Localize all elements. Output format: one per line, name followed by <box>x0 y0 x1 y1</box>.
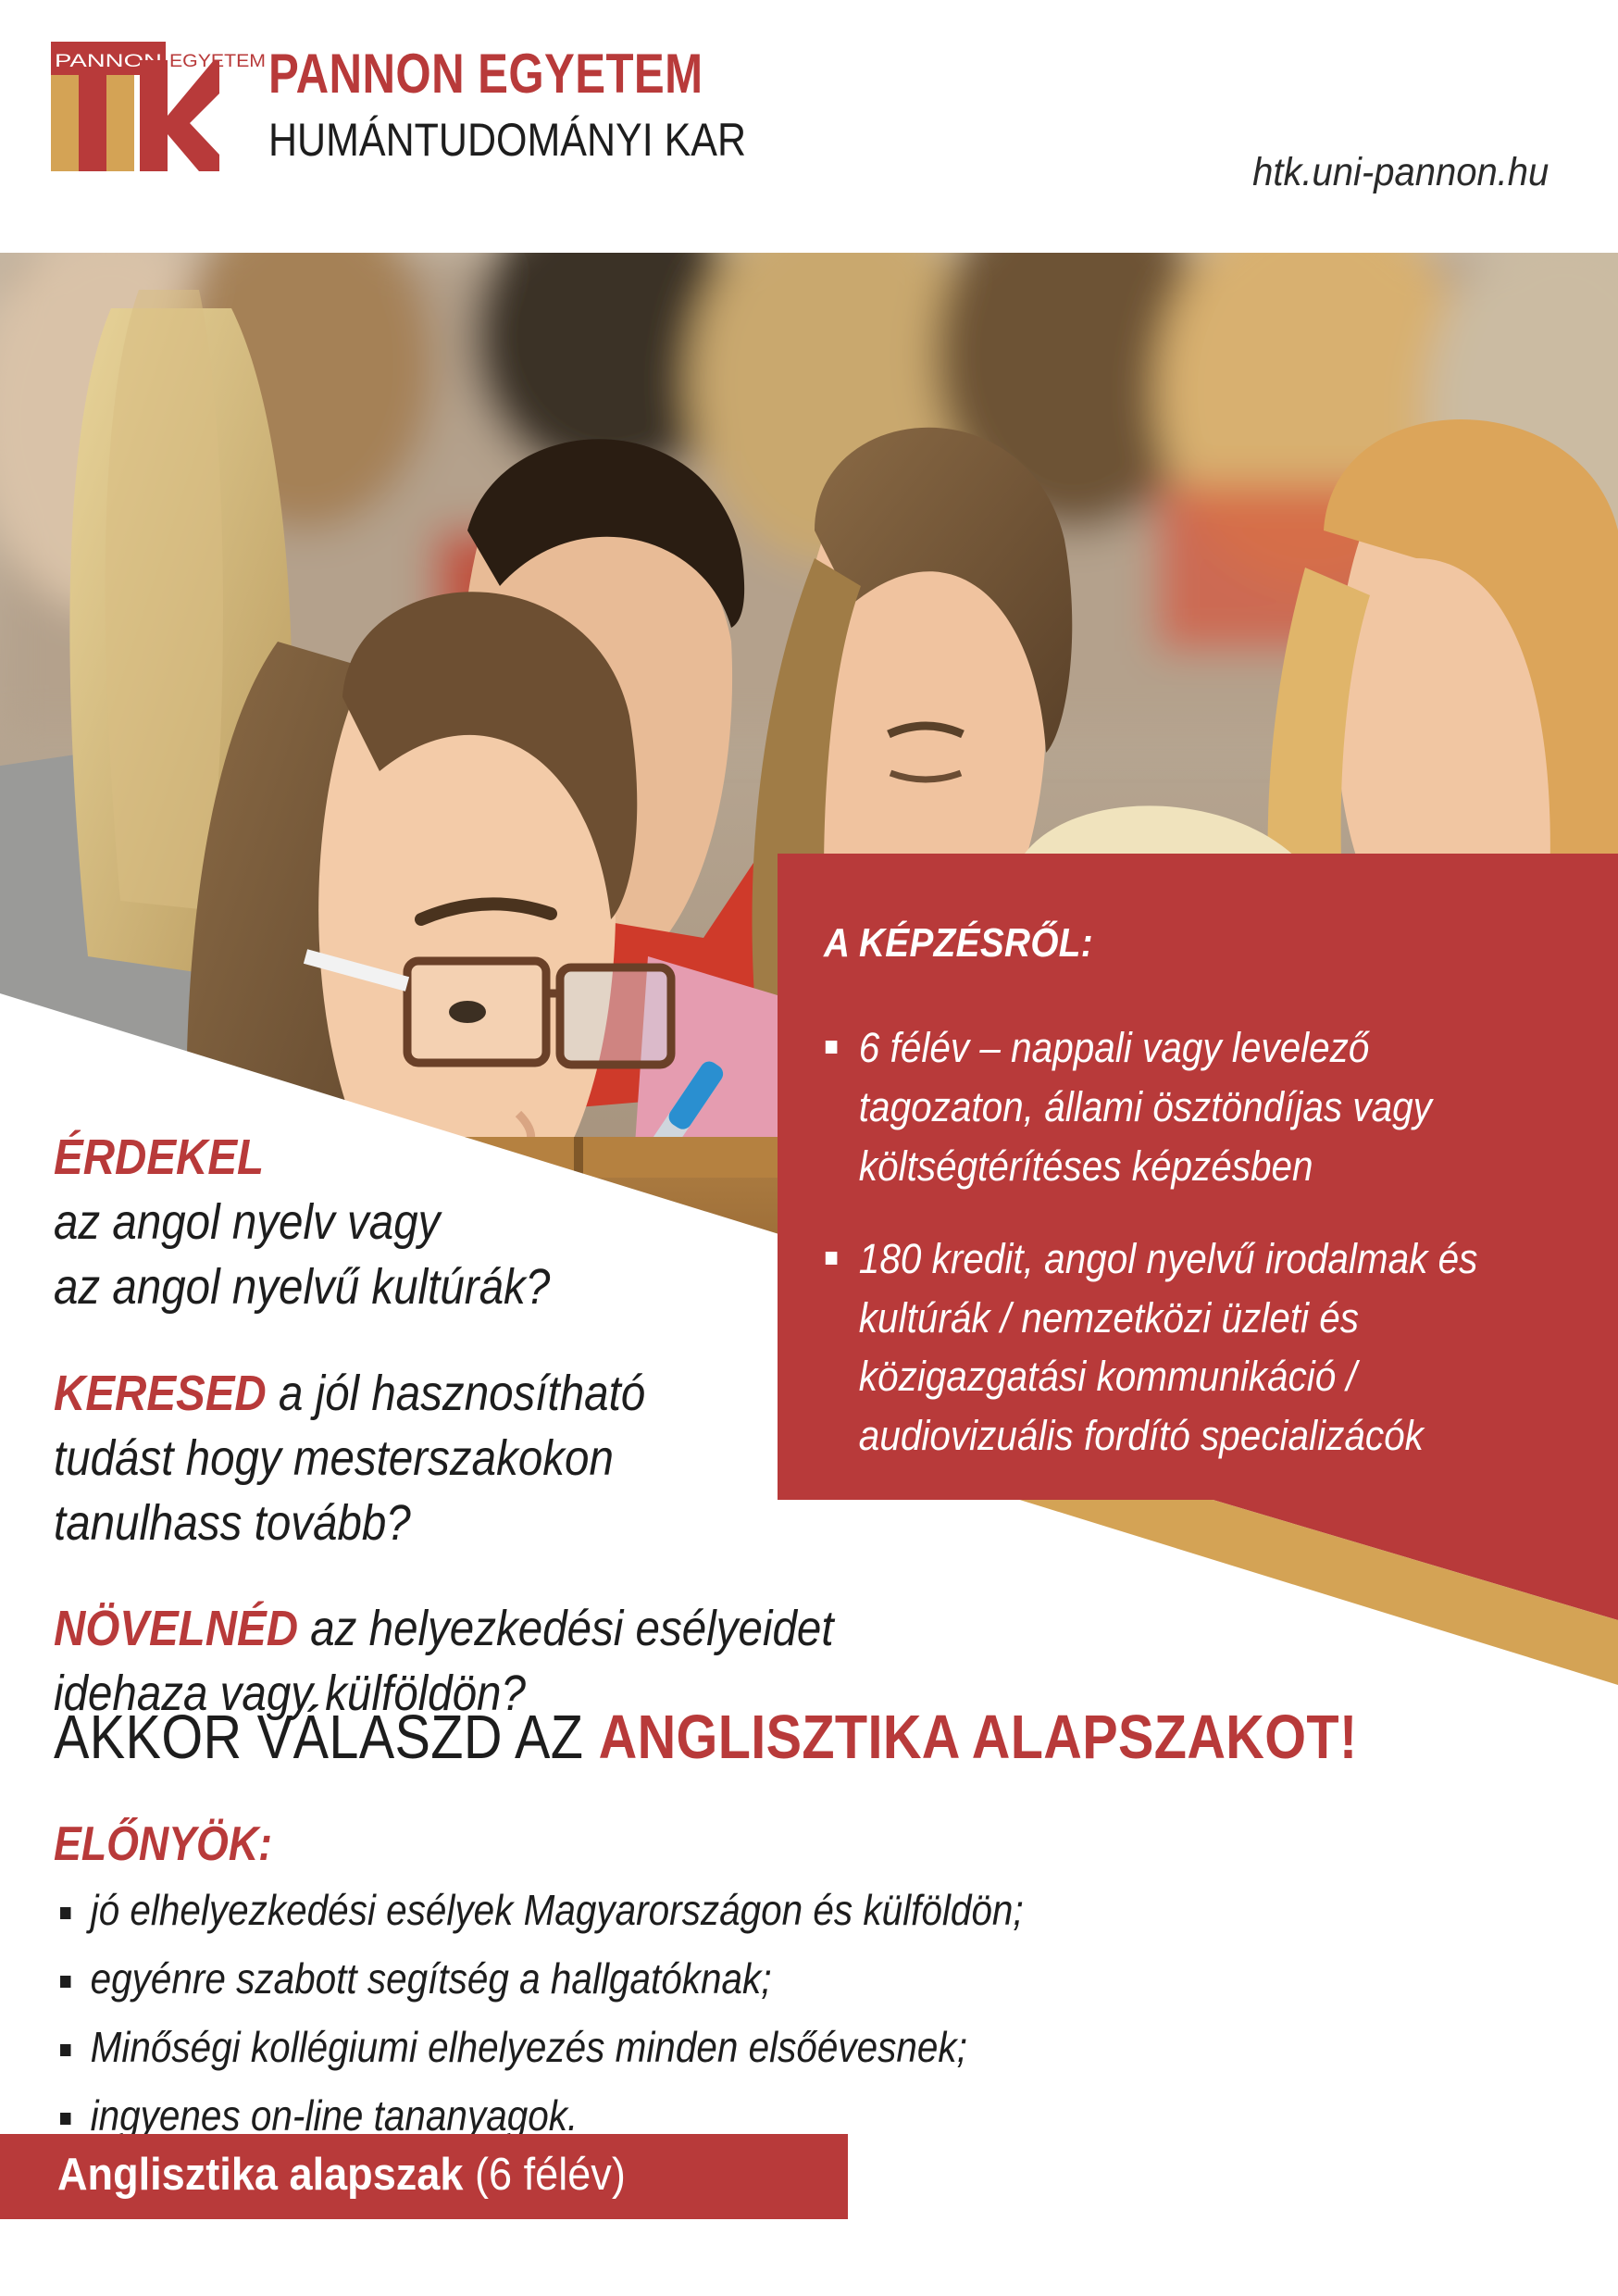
copy-p2-line3: tanulhass tovább? <box>54 1495 411 1551</box>
program-name: Anglisztika alapszak <box>57 2150 463 2200</box>
benefits-block: ELŐNYÖK: jó elhelyezkedési esélyek Magya… <box>54 1816 1442 2163</box>
copy-p1-line2: az angol nyelvű kultúrák? <box>54 1259 550 1315</box>
benefits-item-text: Minőségi kollégiumi elhelyezés minden el… <box>91 2023 967 2071</box>
square-bullet-icon <box>60 1907 70 1919</box>
poster-header: PANNON EGYETEM PANNON EGYETEM HUMÁNTUDOM… <box>0 0 1618 253</box>
website-url[interactable]: htk.uni-pannon.hu <box>1252 150 1549 195</box>
program-footer-bar: Anglisztika alapszak (6 félév) <box>0 2134 848 2219</box>
benefits-item: ingyenes on-line tananyagok. <box>54 2094 1276 2137</box>
copy-p1-line1: az angol nyelv vagy <box>54 1194 440 1250</box>
copy-p2-line1: a jól hasznosítható <box>267 1366 645 1421</box>
square-bullet-icon <box>60 2113 70 2125</box>
benefits-item: Minőségi kollégiumi elhelyezés minden el… <box>54 2026 1276 2068</box>
benefits-title: ELŐNYÖK: <box>54 1816 1248 1872</box>
copy-paragraph-2: KERESED a jól hasznosítható tudást hogy … <box>54 1361 966 1556</box>
benefits-item-text: egyénre szabott segítség a hallgatóknak; <box>91 1954 772 2003</box>
benefits-item: jó elhelyezkedési esélyek Magyarországon… <box>54 1889 1276 1931</box>
copy-keyword-keresed: KERESED <box>54 1366 267 1421</box>
benefits-item-text: ingyenes on-line tananyagok. <box>91 2091 579 2140</box>
program-duration <box>463 2150 475 2200</box>
faculty-name: HUMÁNTUDOMÁNYI KAR <box>268 117 746 163</box>
main-headline: AKKOR VÁLASZD AZ ANGLISZTIKA ALAPSZAKOT! <box>54 1702 1358 1773</box>
square-bullet-icon <box>826 1041 838 1054</box>
square-bullet-icon <box>60 2044 70 2056</box>
benefits-item: egyénre szabott segítség a hallgatóknak; <box>54 1957 1276 2000</box>
benefits-list: jó elhelyezkedési esélyek Magyarországon… <box>54 1889 1442 2137</box>
headline-emphasis: ANGLISZTIKA ALAPSZAKOT! <box>599 1703 1358 1772</box>
header-title-block: PANNON EGYETEM HUMÁNTUDOMÁNYI KAR <box>268 46 824 163</box>
program-footer-text: Anglisztika alapszak (6 félév) <box>57 2149 626 2201</box>
copy-paragraph-1: ÉRDEKEL az angol nyelv vagy az angol nye… <box>54 1125 966 1320</box>
left-copy-block: ÉRDEKEL az angol nyelv vagy az angol nye… <box>54 1125 1090 1764</box>
benefits-item-text: jó elhelyezkedési esélyek Magyarországon… <box>91 1886 1024 1934</box>
copy-keyword-erdekel: ÉRDEKEL <box>54 1129 264 1185</box>
hk-logo: PANNON EGYETEM <box>51 42 219 171</box>
copy-keyword-novelned: NÖVELNÉD <box>54 1601 298 1656</box>
institution-name: PANNON EGYETEM <box>268 46 724 102</box>
headline-lead: AKKOR VÁLASZD AZ <box>54 1703 599 1772</box>
square-bullet-icon <box>60 1976 70 1988</box>
copy-p3-line1: az helyezkedési esélyeidet <box>298 1601 834 1656</box>
poster-root: PANNON EGYETEM PANNON EGYETEM HUMÁNTUDOM… <box>0 0 1618 2296</box>
hk-logo-badge-suffix: EGYETEM <box>168 42 269 75</box>
copy-p2-line2: tudást hogy mesterszakokon <box>54 1430 614 1486</box>
program-duration-value: (6 félév) <box>475 2150 626 2200</box>
info-box-title: A KÉPZÉSRŐL: <box>824 920 1495 967</box>
svg-text:EGYETEM: EGYETEM <box>169 52 266 71</box>
